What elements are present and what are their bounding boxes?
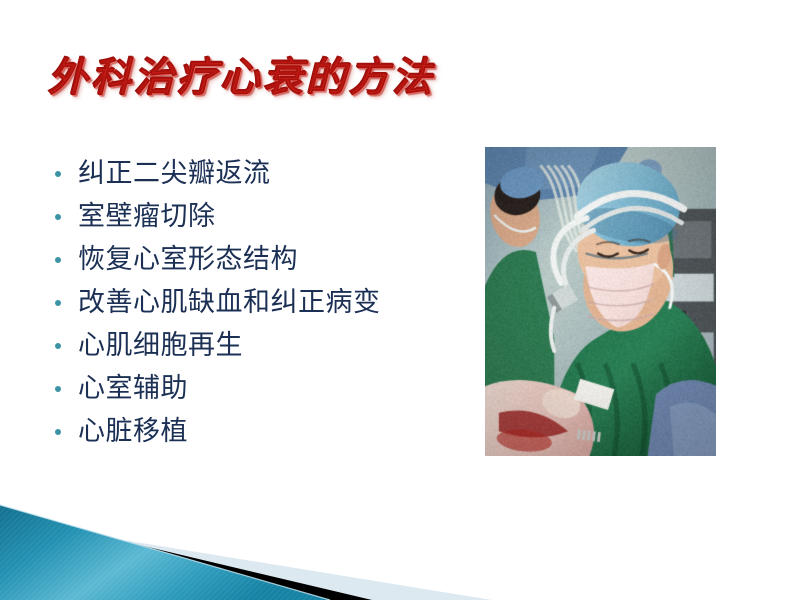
bullet-item-5: 心肌细胞再生 <box>46 324 466 367</box>
bullet-label-5: 心肌细胞再生 <box>78 324 243 367</box>
bullet-item-4: 改善心肌缺血和纠正病变 <box>46 281 466 324</box>
bullet-dot-icon <box>55 429 61 435</box>
bullet-dot-icon <box>55 300 61 306</box>
bullet-dot-icon <box>55 171 61 177</box>
bullet-label-2: 室壁瘤切除 <box>78 195 216 238</box>
bullet-label-3: 恢复心室形态结构 <box>78 238 298 281</box>
bullet-dot-icon <box>55 214 61 220</box>
bottom-decoration <box>0 490 800 600</box>
bullet-item-2: 室壁瘤切除 <box>46 195 466 238</box>
bullet-dot-icon <box>55 386 61 392</box>
bullet-item-7: 心脏移植 <box>46 410 466 453</box>
surgery-photo-image <box>485 147 716 456</box>
teal-edge-highlight <box>0 505 330 600</box>
bullet-item-6: 心室辅助 <box>46 367 466 410</box>
slide-title: 外科治疗心衰的方法 <box>48 50 688 106</box>
bullet-label-6: 心室辅助 <box>78 367 188 410</box>
bullet-item-3: 恢复心室形态结构 <box>46 238 466 281</box>
surgery-photo <box>485 147 716 456</box>
bullet-item-1: 纠正二尖瓣返流 <box>46 152 466 195</box>
teal-wedge-hatch <box>0 505 330 600</box>
bullet-dot-icon <box>55 343 61 349</box>
teal-wedge <box>0 505 330 600</box>
bullet-dot-icon <box>55 257 61 263</box>
pale-wedge <box>0 520 492 600</box>
bullet-label-4: 改善心肌缺血和纠正病变 <box>78 281 381 324</box>
bullet-label-7: 心脏移植 <box>78 410 188 453</box>
bullet-label-1: 纠正二尖瓣返流 <box>78 152 271 195</box>
bullet-list: 纠正二尖瓣返流 室壁瘤切除 恢复心室形态结构 改善心肌缺血和纠正病变 心肌细胞再… <box>46 152 466 453</box>
black-stripe <box>0 512 372 600</box>
presentation-slide: 外科治疗心衰的方法 纠正二尖瓣返流 室壁瘤切除 恢复心室形态结构 改善心肌缺血和… <box>0 0 800 600</box>
